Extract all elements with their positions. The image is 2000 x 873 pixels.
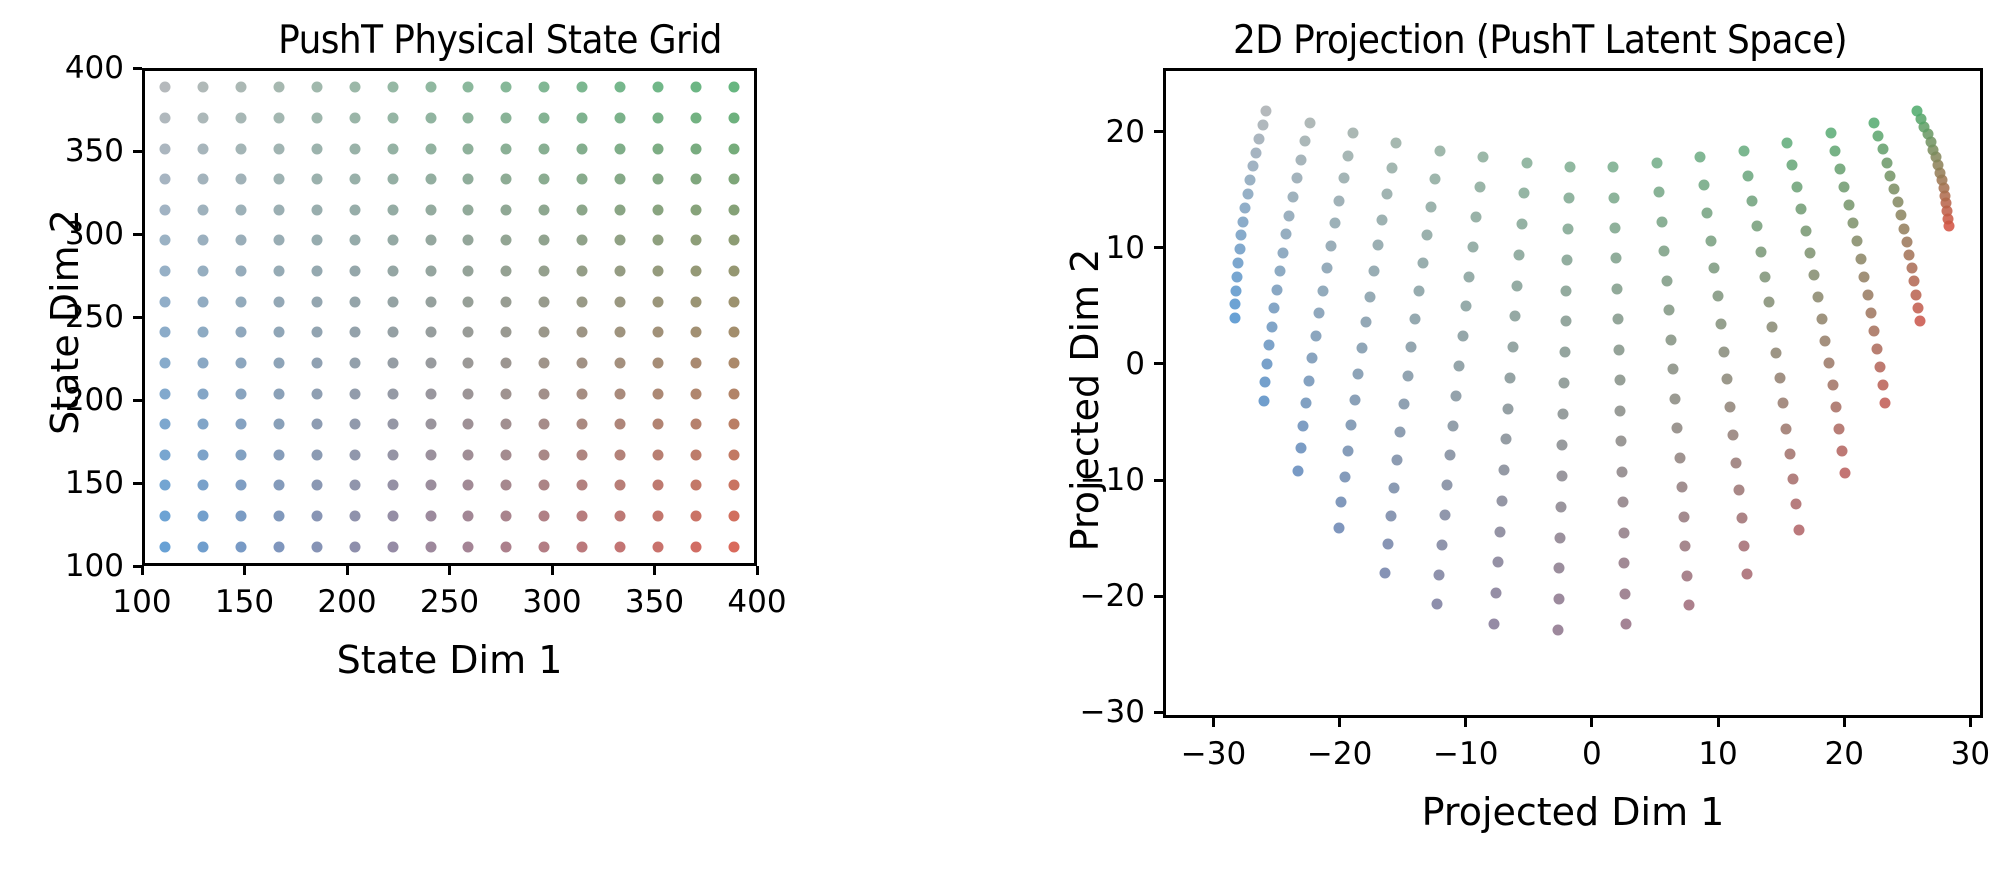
- data-point: [1722, 374, 1733, 385]
- data-point: [1782, 137, 1793, 148]
- data-point: [690, 204, 701, 215]
- data-point: [1434, 145, 1445, 156]
- data-point: [1271, 284, 1282, 295]
- data-point: [1731, 457, 1742, 468]
- data-point: [1321, 263, 1332, 274]
- data-point: [1274, 266, 1285, 277]
- data-point: [198, 449, 209, 460]
- data-point: [539, 174, 550, 185]
- data-point: [311, 143, 322, 154]
- data-point: [1334, 195, 1345, 206]
- data-point: [1448, 420, 1459, 431]
- data-point: [1240, 202, 1251, 213]
- data-point: [198, 357, 209, 368]
- data-point: [577, 296, 588, 307]
- data-point: [1755, 246, 1766, 257]
- data-point: [1501, 434, 1512, 445]
- data-point: [690, 449, 701, 460]
- data-point: [236, 266, 247, 277]
- data-point: [1816, 313, 1827, 324]
- data-point: [1258, 395, 1269, 406]
- data-point: [1784, 448, 1795, 459]
- data-point: [652, 449, 663, 460]
- x-tick-mark: [1464, 718, 1467, 727]
- data-point: [463, 266, 474, 277]
- data-point: [1834, 423, 1845, 434]
- data-point: [1719, 346, 1730, 357]
- data-point: [1804, 247, 1815, 258]
- data-point: [387, 143, 398, 154]
- data-point: [728, 357, 739, 368]
- data-point: [1656, 216, 1667, 227]
- data-point: [1478, 152, 1489, 163]
- data-point: [1739, 541, 1750, 552]
- data-point: [273, 174, 284, 185]
- data-point: [1880, 398, 1891, 409]
- data-point: [1454, 360, 1465, 371]
- data-point: [160, 388, 171, 399]
- data-point: [652, 82, 663, 93]
- data-point: [425, 296, 436, 307]
- data-point: [1751, 221, 1762, 232]
- data-point: [501, 449, 512, 460]
- data-point: [615, 449, 626, 460]
- data-point: [1672, 423, 1683, 434]
- data-point: [1611, 253, 1622, 264]
- x-tick-mark: [141, 566, 144, 575]
- data-point: [236, 510, 247, 521]
- x-tick-label: 30: [1951, 728, 1990, 772]
- data-point: [463, 327, 474, 338]
- data-point: [273, 113, 284, 124]
- data-point: [690, 235, 701, 246]
- data-point: [1725, 402, 1736, 413]
- data-point: [1695, 152, 1706, 163]
- data-point: [311, 510, 322, 521]
- data-point: [539, 235, 550, 246]
- data-point: [1555, 501, 1566, 512]
- data-point: [349, 510, 360, 521]
- x-tick-label: −10: [1433, 728, 1498, 772]
- y-tick-label: 10: [1106, 230, 1155, 266]
- data-point: [539, 480, 550, 491]
- data-point: [1514, 249, 1525, 260]
- data-point: [273, 388, 284, 399]
- data-point: [615, 296, 626, 307]
- data-point: [1736, 513, 1747, 524]
- data-point: [1651, 157, 1662, 168]
- data-point: [387, 357, 398, 368]
- data-point: [463, 82, 474, 93]
- data-point: [615, 510, 626, 521]
- data-point: [690, 327, 701, 338]
- data-point: [1616, 436, 1627, 447]
- data-point: [311, 235, 322, 246]
- y-tick-mark: [1154, 595, 1163, 598]
- data-point: [1843, 200, 1854, 211]
- data-point: [1464, 271, 1475, 282]
- x-tick-label: 200: [317, 576, 376, 620]
- data-point: [1426, 201, 1437, 212]
- data-point: [1254, 133, 1265, 144]
- data-point: [1304, 375, 1315, 386]
- data-point: [1257, 120, 1268, 131]
- data-point: [311, 327, 322, 338]
- data-point: [1898, 223, 1909, 234]
- data-point: [690, 296, 701, 307]
- data-point: [577, 449, 588, 460]
- data-point: [160, 541, 171, 552]
- data-point: [1617, 497, 1628, 508]
- data-point: [1873, 131, 1884, 142]
- data-point: [425, 235, 436, 246]
- data-point: [1747, 196, 1758, 207]
- data-point: [311, 82, 322, 93]
- data-point: [1379, 567, 1390, 578]
- x-tick-label: 350: [625, 576, 684, 620]
- y-tick-mark: [1154, 130, 1163, 133]
- data-point: [1619, 558, 1630, 569]
- data-point: [1460, 301, 1471, 312]
- data-point: [1906, 263, 1917, 274]
- data-point: [501, 327, 512, 338]
- data-point: [1781, 423, 1792, 434]
- panel-title-left: PushT Physical State Grid: [40, 18, 960, 63]
- data-point: [198, 235, 209, 246]
- data-point: [1509, 311, 1520, 322]
- data-point: [1558, 378, 1569, 389]
- data-point: [1242, 189, 1253, 200]
- ylabel-left: State Dim 2: [43, 42, 87, 602]
- data-point: [236, 204, 247, 215]
- data-point: [1827, 379, 1838, 390]
- data-point: [501, 266, 512, 277]
- data-point: [273, 143, 284, 154]
- data-point: [1471, 211, 1482, 222]
- data-point: [1909, 276, 1920, 287]
- data-point: [1800, 225, 1811, 236]
- data-point: [1855, 254, 1866, 265]
- x-tick-mark: [1212, 718, 1215, 727]
- data-point: [1674, 452, 1685, 463]
- data-point: [311, 419, 322, 430]
- data-point: [1868, 117, 1879, 128]
- x-tick-label: 150: [215, 576, 274, 620]
- data-point: [1436, 539, 1447, 550]
- data-point: [1866, 308, 1877, 319]
- data-point: [1877, 144, 1888, 155]
- data-point: [349, 449, 360, 460]
- data-point: [501, 480, 512, 491]
- data-point: [1676, 482, 1687, 493]
- data-point: [728, 174, 739, 185]
- data-point: [615, 82, 626, 93]
- figure-root: PushT Physical State Grid 10015020025030…: [0, 0, 2000, 873]
- data-point: [1377, 214, 1388, 225]
- data-point: [160, 266, 171, 277]
- data-point: [311, 174, 322, 185]
- data-point: [273, 449, 284, 460]
- data-point: [1901, 236, 1912, 247]
- x-tick-label: 400: [727, 576, 786, 620]
- data-point: [577, 235, 588, 246]
- data-point: [425, 327, 436, 338]
- data-point: [577, 113, 588, 124]
- x-tick-mark: [346, 566, 349, 575]
- data-point: [160, 327, 171, 338]
- data-point: [1558, 409, 1569, 420]
- data-point: [1232, 271, 1243, 282]
- x-tick-mark: [1717, 718, 1720, 727]
- data-point: [652, 204, 663, 215]
- data-point: [387, 113, 398, 124]
- data-point: [1360, 317, 1371, 328]
- data-point: [1553, 594, 1564, 605]
- data-point: [1728, 429, 1739, 440]
- x-tick-mark: [243, 566, 246, 575]
- data-point: [463, 480, 474, 491]
- data-point: [273, 480, 284, 491]
- data-point: [1388, 483, 1399, 494]
- data-point: [425, 174, 436, 185]
- data-point: [273, 541, 284, 552]
- data-point: [1808, 269, 1819, 280]
- data-point: [273, 510, 284, 521]
- data-point: [236, 357, 247, 368]
- data-point: [1914, 316, 1925, 327]
- data-point: [463, 388, 474, 399]
- data-point: [1680, 541, 1691, 552]
- data-point: [387, 419, 398, 430]
- data-point: [728, 449, 739, 460]
- data-point: [577, 204, 588, 215]
- data-point: [1353, 368, 1364, 379]
- data-point: [1875, 362, 1886, 373]
- data-point: [387, 235, 398, 246]
- y-tick-mark: [1154, 246, 1163, 249]
- data-point: [1336, 497, 1347, 508]
- y-tick-mark: [1154, 479, 1163, 482]
- data-point: [160, 357, 171, 368]
- data-point: [615, 266, 626, 277]
- data-point: [1709, 263, 1720, 274]
- data-point: [160, 204, 171, 215]
- data-point: [728, 235, 739, 246]
- data-point: [1702, 207, 1713, 218]
- data-point: [539, 419, 550, 430]
- data-point: [236, 541, 247, 552]
- data-point: [1847, 218, 1858, 229]
- data-point: [1413, 286, 1424, 297]
- data-point: [463, 174, 474, 185]
- data-point: [349, 296, 360, 307]
- data-point: [1421, 229, 1432, 240]
- data-point: [1491, 587, 1502, 598]
- data-point: [273, 82, 284, 93]
- data-point: [577, 327, 588, 338]
- data-point: [198, 174, 209, 185]
- data-point: [236, 419, 247, 430]
- data-point: [1554, 563, 1565, 574]
- data-point: [236, 235, 247, 246]
- data-point: [501, 419, 512, 430]
- data-point: [1560, 316, 1571, 327]
- data-point: [1329, 218, 1340, 229]
- data-point: [311, 266, 322, 277]
- data-point: [425, 143, 436, 154]
- data-point: [690, 510, 701, 521]
- data-point: [1512, 280, 1523, 291]
- data-point: [198, 204, 209, 215]
- data-point: [349, 82, 360, 93]
- data-point: [425, 480, 436, 491]
- data-point: [1615, 405, 1626, 416]
- data-point: [539, 388, 550, 399]
- axes-physical-state-grid: [142, 68, 757, 566]
- x-tick-label: 100: [112, 576, 171, 620]
- data-point: [1555, 532, 1566, 543]
- data-point: [728, 266, 739, 277]
- data-point: [311, 480, 322, 491]
- y-tick-mark: [133, 399, 142, 402]
- data-point: [349, 480, 360, 491]
- data-point: [463, 510, 474, 521]
- data-point: [1230, 299, 1241, 310]
- data-point: [577, 143, 588, 154]
- x-tick-mark: [1590, 718, 1593, 727]
- data-point: [1895, 210, 1906, 221]
- data-point: [652, 113, 663, 124]
- data-point: [1245, 175, 1256, 186]
- data-point: [1231, 285, 1242, 296]
- data-point: [501, 388, 512, 399]
- data-point: [728, 541, 739, 552]
- data-point: [652, 327, 663, 338]
- data-point: [690, 143, 701, 154]
- data-point: [236, 113, 247, 124]
- data-point: [387, 296, 398, 307]
- data-point: [160, 235, 171, 246]
- data-point: [1301, 398, 1312, 409]
- data-point: [311, 357, 322, 368]
- data-point: [1654, 187, 1665, 198]
- xlabel-right: Projected Dim 1: [1163, 790, 1983, 834]
- data-point: [1406, 342, 1417, 353]
- data-point: [1348, 128, 1359, 139]
- data-point: [539, 510, 550, 521]
- data-point: [236, 388, 247, 399]
- data-point: [1759, 271, 1770, 282]
- data-point: [1698, 180, 1709, 191]
- data-point: [160, 174, 171, 185]
- y-tick-label: 20: [1106, 114, 1155, 150]
- data-point: [1778, 398, 1789, 409]
- data-point: [539, 204, 550, 215]
- data-point: [1442, 480, 1453, 491]
- data-point: [1668, 364, 1679, 375]
- data-point: [1904, 250, 1915, 261]
- data-point: [349, 419, 360, 430]
- data-point: [690, 266, 701, 277]
- data-point: [1402, 370, 1413, 381]
- data-point: [349, 541, 360, 552]
- data-point: [1496, 495, 1507, 506]
- x-tick-label: −20: [1307, 728, 1372, 772]
- data-point: [349, 204, 360, 215]
- data-point: [387, 480, 398, 491]
- data-point: [652, 510, 663, 521]
- data-point: [1521, 157, 1532, 168]
- data-point: [1291, 173, 1302, 184]
- data-point: [1288, 192, 1299, 203]
- data-point: [1824, 357, 1835, 368]
- data-point: [577, 510, 588, 521]
- data-point: [1620, 619, 1631, 630]
- data-point: [1678, 511, 1689, 522]
- data-point: [1349, 394, 1360, 405]
- data-point: [690, 82, 701, 93]
- data-point: [1493, 557, 1504, 568]
- data-point: [1812, 291, 1823, 302]
- data-point: [615, 143, 626, 154]
- data-point: [1738, 145, 1749, 156]
- data-point: [728, 296, 739, 307]
- data-point: [615, 357, 626, 368]
- data-point: [387, 204, 398, 215]
- data-point: [236, 327, 247, 338]
- data-point: [1741, 568, 1752, 579]
- data-point: [539, 541, 550, 552]
- data-point: [501, 510, 512, 521]
- data-point: [615, 204, 626, 215]
- data-point: [1791, 181, 1802, 192]
- data-point: [501, 296, 512, 307]
- data-point: [1266, 321, 1277, 332]
- data-point: [1612, 283, 1623, 294]
- data-point: [1262, 358, 1273, 369]
- data-point: [1834, 164, 1845, 175]
- data-point: [1236, 230, 1247, 241]
- data-point: [1913, 302, 1924, 313]
- data-point: [425, 388, 436, 399]
- data-point: [1796, 203, 1807, 214]
- x-tick-mark: [551, 566, 554, 575]
- data-point: [690, 419, 701, 430]
- data-point: [273, 296, 284, 307]
- data-point: [728, 388, 739, 399]
- data-point: [1733, 485, 1744, 496]
- data-point: [311, 204, 322, 215]
- data-point: [1771, 347, 1782, 358]
- data-point: [1229, 313, 1240, 324]
- x-tick-label: 20: [1824, 728, 1863, 772]
- y-tick-label: 0: [1125, 346, 1155, 382]
- data-point: [425, 266, 436, 277]
- data-point: [1563, 223, 1574, 234]
- data-point: [311, 113, 322, 124]
- data-point: [236, 480, 247, 491]
- x-tick-mark: [448, 566, 451, 575]
- data-point: [387, 82, 398, 93]
- data-point: [728, 113, 739, 124]
- data-point: [1495, 526, 1506, 537]
- data-point: [160, 296, 171, 307]
- data-point: [198, 541, 209, 552]
- data-point: [1767, 322, 1778, 333]
- x-tick-mark: [756, 566, 759, 575]
- data-point: [1837, 445, 1848, 456]
- data-point: [577, 541, 588, 552]
